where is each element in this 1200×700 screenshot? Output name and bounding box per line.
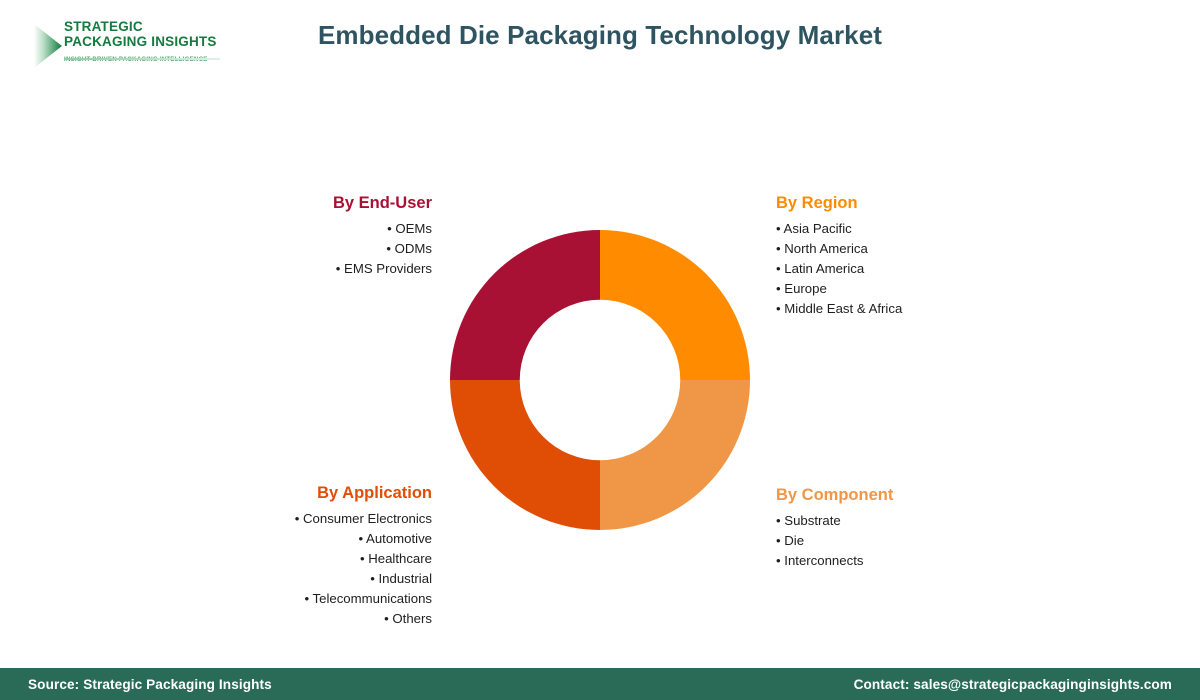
list-item: • Consumer Electronics: [150, 509, 432, 529]
list-item: • Asia Pacific: [776, 219, 1076, 239]
list-item: • Latin America: [776, 259, 1076, 279]
list-item: • North America: [776, 239, 1076, 259]
page-title: Embedded Die Packaging Technology Market: [0, 20, 1200, 51]
segment-block-application: By Application • Consumer Electronics • …: [150, 483, 432, 629]
segment-block-region: By Region • Asia Pacific • North America…: [776, 193, 1076, 319]
segment-heading-application: By Application: [150, 483, 432, 503]
list-item: • Europe: [776, 279, 1076, 299]
list-item: • Die: [776, 531, 1076, 551]
list-item: • Others: [150, 609, 432, 629]
segment-list-end-user: • OEMs • ODMs • EMS Providers: [190, 219, 432, 279]
segment-list-application: • Consumer Electronics • Automotive • He…: [150, 509, 432, 629]
list-item: • Industrial: [150, 569, 432, 589]
list-item: • Substrate: [776, 511, 1076, 531]
donut-segment-by-component: [600, 380, 750, 530]
footer-contact[interactable]: Contact: sales@strategicpackaginginsight…: [854, 677, 1172, 692]
list-item: • Telecommunications: [150, 589, 432, 609]
list-item: • Middle East & Africa: [776, 299, 1076, 319]
segment-list-region: • Asia Pacific • North America • Latin A…: [776, 219, 1076, 319]
segment-block-component: By Component • Substrate • Die • Interco…: [776, 485, 1076, 571]
donut-segment-by-application: [450, 380, 600, 530]
donut-segment-by-region: [600, 230, 750, 380]
logo-underline-divider: [64, 58, 220, 60]
footer-bar: Source: Strategic Packaging Insights Con…: [0, 668, 1200, 700]
segment-heading-component: By Component: [776, 485, 1076, 505]
donut-segment-by-end-user: [450, 230, 600, 380]
segment-heading-end-user: By End-User: [190, 193, 432, 213]
market-segmentation-donut-chart: [450, 230, 750, 530]
list-item: • EMS Providers: [190, 259, 432, 279]
list-item: • Healthcare: [150, 549, 432, 569]
list-item: • ODMs: [190, 239, 432, 259]
segment-block-end-user: By End-User • OEMs • ODMs • EMS Provider…: [190, 193, 432, 279]
donut-svg: [450, 230, 750, 530]
list-item: • OEMs: [190, 219, 432, 239]
segment-heading-region: By Region: [776, 193, 1076, 213]
list-item: • Interconnects: [776, 551, 1076, 571]
segment-list-component: • Substrate • Die • Interconnects: [776, 511, 1076, 571]
list-item: • Automotive: [150, 529, 432, 549]
footer-source: Source: Strategic Packaging Insights: [28, 677, 272, 692]
